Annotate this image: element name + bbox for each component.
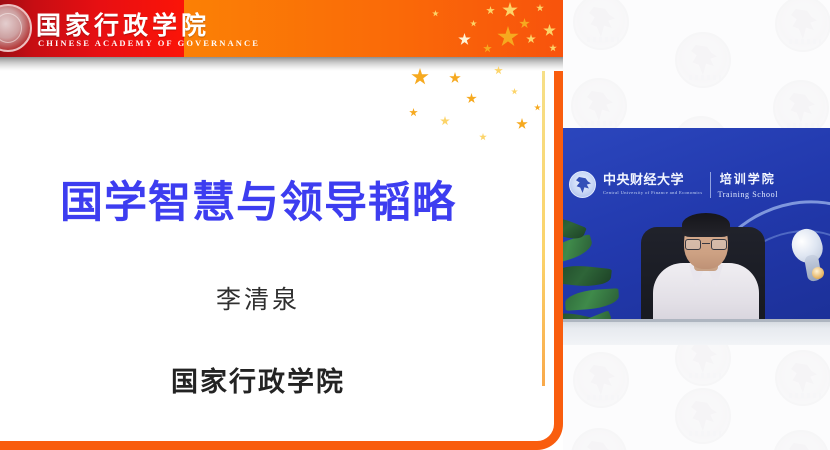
header-drop-shadow [0, 57, 563, 71]
screen: 国家行政学院 CHINESE ACADEMY OF GOVERNANCE 国学智… [0, 0, 830, 450]
circular-emblem-watermark-icon [775, 0, 830, 52]
circular-emblem-watermark-icon [675, 32, 731, 88]
circular-emblem-watermark-icon [571, 78, 627, 134]
slide-title: 国学智慧与领导韬略 [0, 168, 516, 230]
national-emblem-seal-icon [0, 4, 32, 52]
speaker-video-feed[interactable]: 中央财经大学 Central University of Finance and… [563, 128, 830, 345]
circular-emblem-watermark-icon [573, 352, 629, 408]
slide-inner-hairline [542, 56, 545, 386]
circular-emblem-watermark-icon [571, 428, 627, 450]
academy-name-en: CHINESE ACADEMY OF GOVERNANCE [38, 38, 260, 48]
microphone [778, 229, 824, 289]
slide-header-band: 国家行政学院 CHINESE ACADEMY OF GOVERNANCE [0, 0, 563, 57]
academy-name-cn: 国家行政学院 [36, 6, 210, 42]
presenter-figure [653, 211, 759, 329]
university-name-cn: 中央财经大学 [603, 174, 703, 188]
department-name-en: Training School [718, 190, 779, 199]
department-name-cn: 培训学院 [718, 170, 779, 187]
slide-speaker-name: 李清泉 [0, 280, 516, 316]
eyeglasses-icon [684, 239, 728, 251]
backdrop-branding: 中央财经大学 Central University of Finance and… [569, 170, 778, 199]
circular-emblem-watermark-icon [675, 388, 731, 444]
circular-emblem-watermark-icon [775, 350, 830, 406]
university-name-en: Central University of Finance and Econom… [603, 190, 703, 195]
circular-emblem-watermark-icon [773, 430, 829, 450]
presenter-hair [682, 213, 730, 237]
desk-surface [563, 319, 830, 345]
video-side-panel: 中央财经大学 Central University of Finance and… [563, 0, 830, 450]
circular-emblem-watermark-icon [573, 0, 629, 50]
slide-organization: 国家行政学院 [0, 360, 516, 399]
presentation-slide: 国家行政学院 CHINESE ACADEMY OF GOVERNANCE 国学智… [0, 0, 563, 450]
brand-divider [710, 172, 711, 198]
university-crest-icon [569, 171, 596, 198]
